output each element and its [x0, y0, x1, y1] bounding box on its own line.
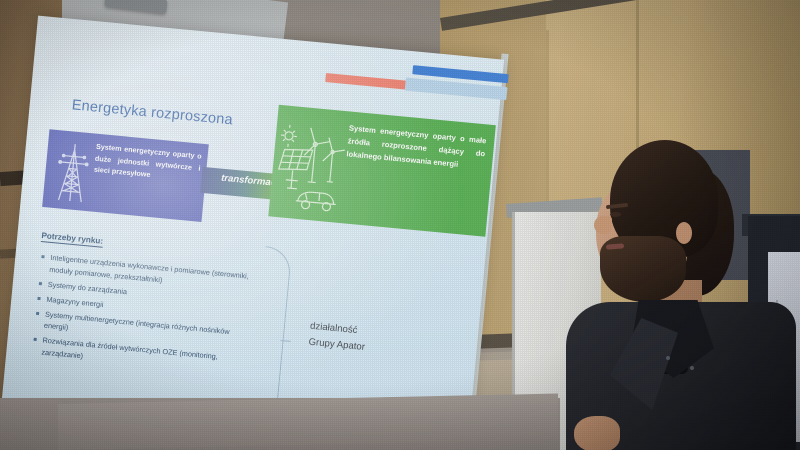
presenter-eye [610, 212, 621, 217]
presenter-ear [676, 222, 692, 244]
power-pylon-icon [51, 140, 95, 205]
wood-seam [636, 0, 639, 155]
sun-icon [280, 124, 298, 147]
projected-slide: Energetyka rozproszona [1, 16, 504, 450]
projection-screen-area: Energetyka rozproszona [0, 0, 506, 450]
side-note: działalność Grupy Apator [308, 319, 367, 356]
legacy-system-text: System energetyczny oparty o duże jednos… [93, 141, 202, 185]
presenter-jacket-button-2 [690, 366, 694, 370]
legacy-system-box: System energetyczny oparty o duże jednos… [42, 129, 209, 222]
presenter-jacket-button [666, 356, 670, 360]
electric-car-icon [295, 191, 336, 212]
needs-heading: Potrzeby rynku: [41, 231, 104, 248]
presenter [548, 140, 800, 450]
distributed-system-text: System energetyczny oparty o małe źródła… [346, 121, 487, 173]
presenter-nose [594, 216, 612, 234]
distributed-system-box: System energetyczny oparty o małe źródła… [268, 105, 496, 237]
slide-title: Energetyka rozproszona [71, 97, 233, 128]
wind-turbine-icon [302, 127, 331, 183]
renewable-icons-group [273, 113, 352, 217]
presenter-hand [574, 416, 620, 450]
needs-list: Inteligentne urządzenia wykonawcze i pom… [30, 251, 261, 381]
wind-turbine-icon-2 [321, 137, 346, 183]
photo-scene: Energetyka rozproszona [0, 0, 800, 450]
